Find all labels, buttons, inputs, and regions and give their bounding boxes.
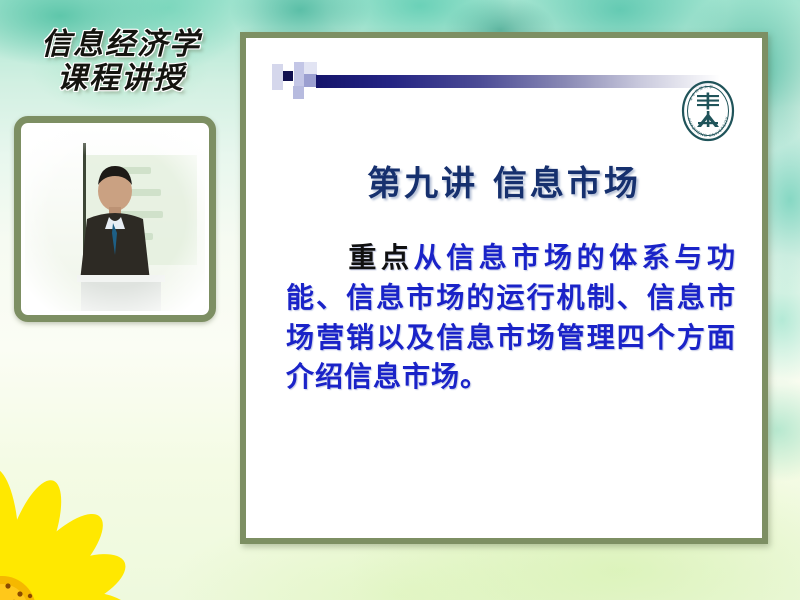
deco-square-1 (272, 64, 283, 90)
course-title-line-2: 课程讲授 (16, 62, 226, 96)
svg-text:华中科技大学: 华中科技大学 (688, 84, 715, 102)
deco-square-6 (304, 62, 317, 74)
hust-crest-icon: 华中科技大学 HUAZHONG UNIVERSITY (680, 80, 736, 142)
course-title-line-1: 信息经济学 (16, 28, 226, 62)
daisy-flower-decoration (0, 420, 192, 600)
course-title: 信息经济学 课程讲授 (16, 28, 226, 96)
lecture-video-thumbnail[interactable] (14, 116, 216, 322)
university-logo: 华中科技大学 HUAZHONG UNIVERSITY (680, 80, 736, 142)
slide-header-decoration (268, 62, 720, 108)
slide-stage: 信息经济学 课程讲授 (0, 0, 800, 600)
deco-gradient-bar (316, 75, 720, 88)
deco-square-2 (283, 71, 293, 81)
deco-square-5 (293, 86, 304, 99)
body-keyword: 重点 (345, 241, 414, 274)
deco-square-3 (294, 62, 304, 86)
lecture-video-image[interactable] (25, 127, 205, 311)
lecturer-illustration (25, 127, 205, 311)
slide-body-text: 重点从信息市场的体系与功能、信息市场的运行机制、信息市场营销以及信息市场管理四个… (286, 238, 736, 397)
slide-title: 第九讲 信息市场 (246, 156, 762, 205)
presentation-slide: 华中科技大学 HUAZHONG UNIVERSITY 第九讲 信息市场 (240, 32, 768, 544)
